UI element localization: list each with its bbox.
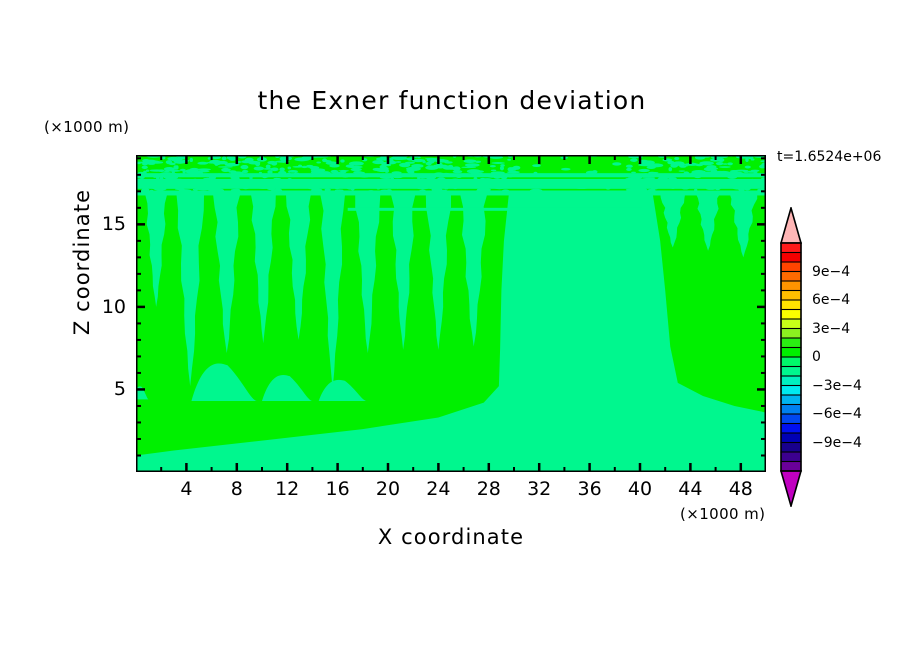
x-tick-label: 8 [231, 478, 243, 500]
x-tick-label: 12 [275, 478, 299, 500]
colorbar-tick-label: 9e−4 [812, 264, 850, 280]
x-tick-label: 20 [376, 478, 400, 500]
x-tick-label: 24 [426, 478, 450, 500]
x-axis-title: X coordinate [136, 525, 766, 549]
colorbar [778, 207, 804, 507]
x-tick-label: 44 [678, 478, 702, 500]
x-tick-label: 32 [527, 478, 551, 500]
contour-plot [136, 155, 766, 472]
time-annotation: t=1.6524e+06 [777, 149, 881, 165]
y-tick-label: 10 [88, 296, 126, 318]
x-tick-label: 28 [477, 478, 501, 500]
y-axis-units-label: (×1000 m) [44, 118, 129, 136]
colorbar-tick-label: 0 [812, 349, 821, 365]
x-tick-label: 16 [326, 478, 350, 500]
x-tick-label: 36 [578, 478, 602, 500]
y-tick-label: 5 [88, 378, 126, 400]
colorbar-tick-label: −3e−4 [812, 378, 862, 394]
figure-root: the Exner function deviation (×1000 m) t… [0, 0, 904, 654]
x-tick-label: 4 [180, 478, 192, 500]
x-axis-units-label: (×1000 m) [680, 505, 765, 523]
colorbar-tick-label: −9e−4 [812, 435, 862, 451]
chart-title: the Exner function deviation [0, 86, 904, 115]
y-tick-label: 15 [88, 213, 126, 235]
colorbar-tick-label: −6e−4 [812, 406, 862, 422]
x-tick-label: 40 [628, 478, 652, 500]
colorbar-tick-label: 6e−4 [812, 292, 850, 308]
x-tick-label: 48 [729, 478, 753, 500]
y-axis-title: Z coordinate [70, 162, 94, 362]
colorbar-tick-label: 3e−4 [812, 321, 850, 337]
